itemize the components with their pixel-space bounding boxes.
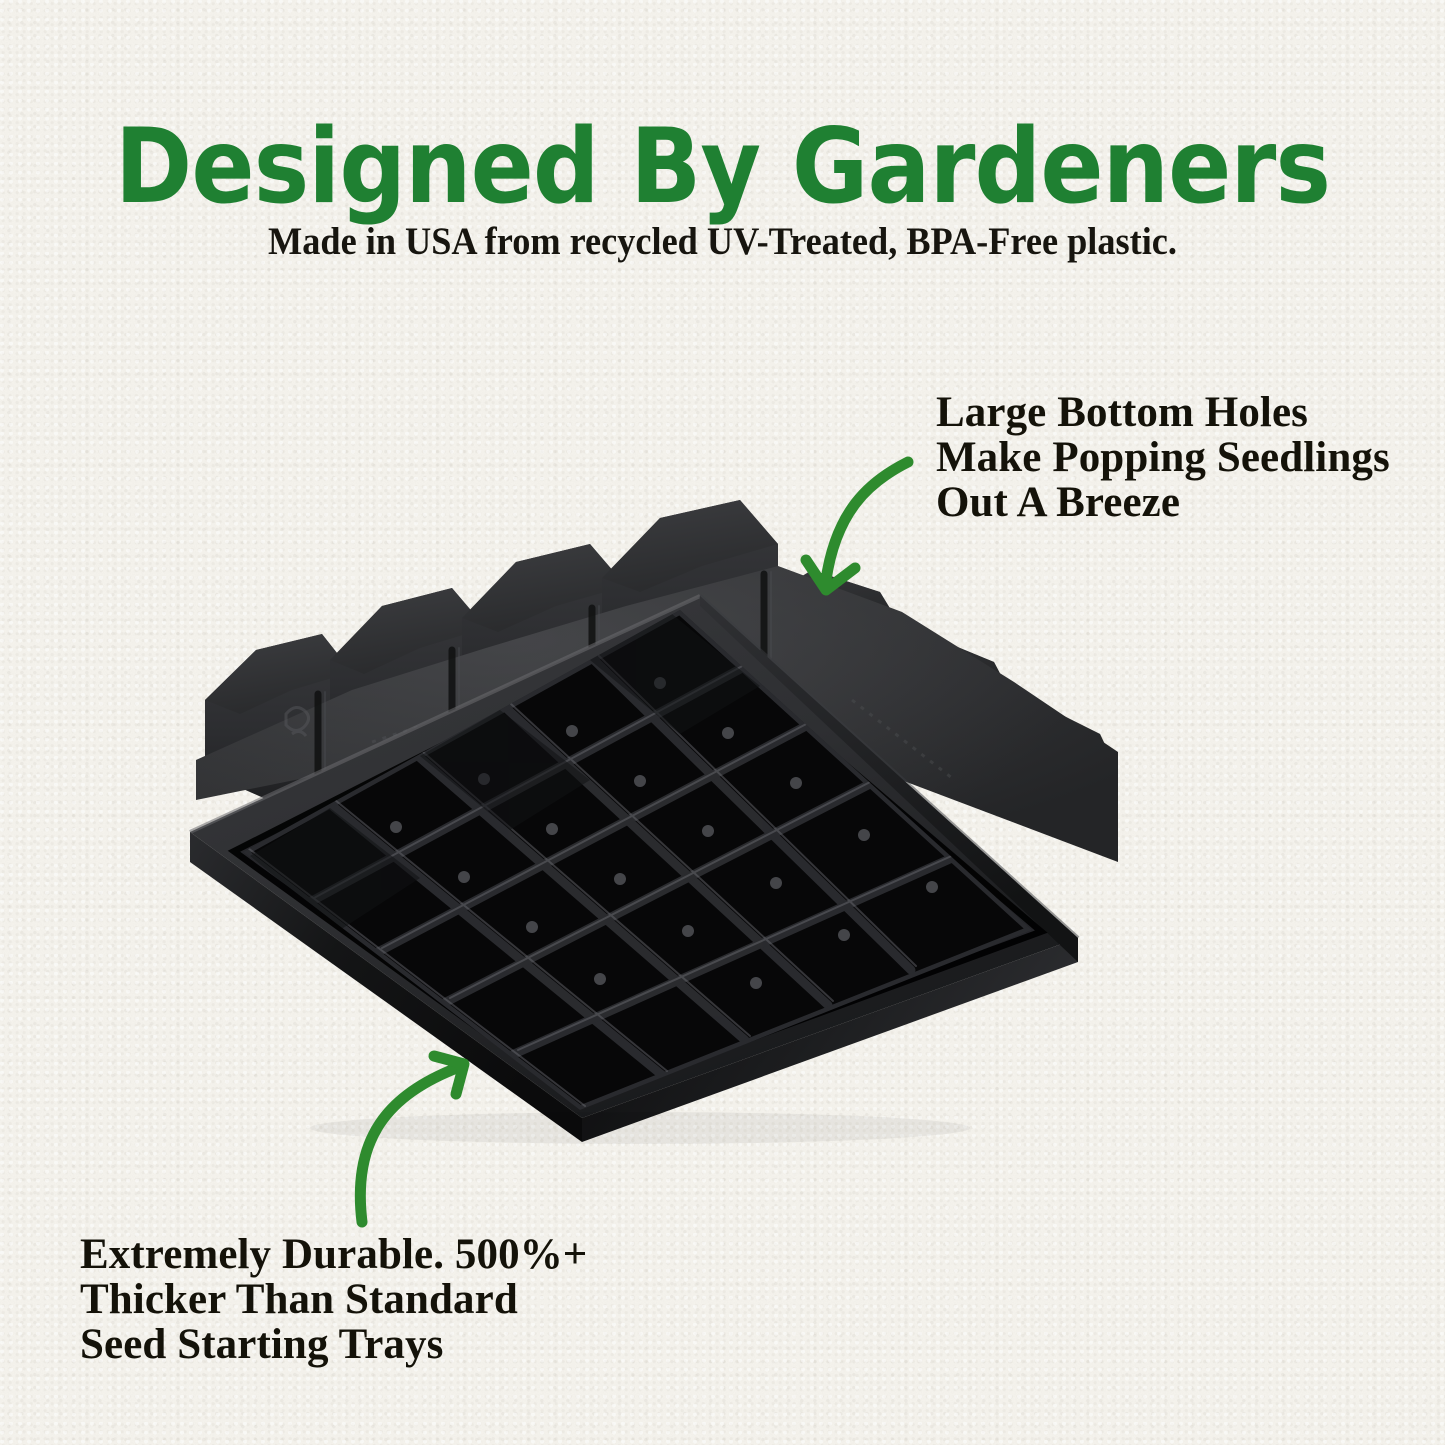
product-illustration: [0, 0, 1445, 1445]
curved-arrow-down-left-icon: [806, 462, 908, 590]
infographic-canvas: Designed By Gardeners Made in USA from r…: [0, 0, 1445, 1445]
callout-bottom-left-text: Extremely Durable. 500%+ Thicker Than St…: [80, 1232, 587, 1367]
tray-shadow: [310, 1112, 970, 1144]
callout-top-right-text: Large Bottom Holes Make Popping Seedling…: [936, 390, 1390, 525]
